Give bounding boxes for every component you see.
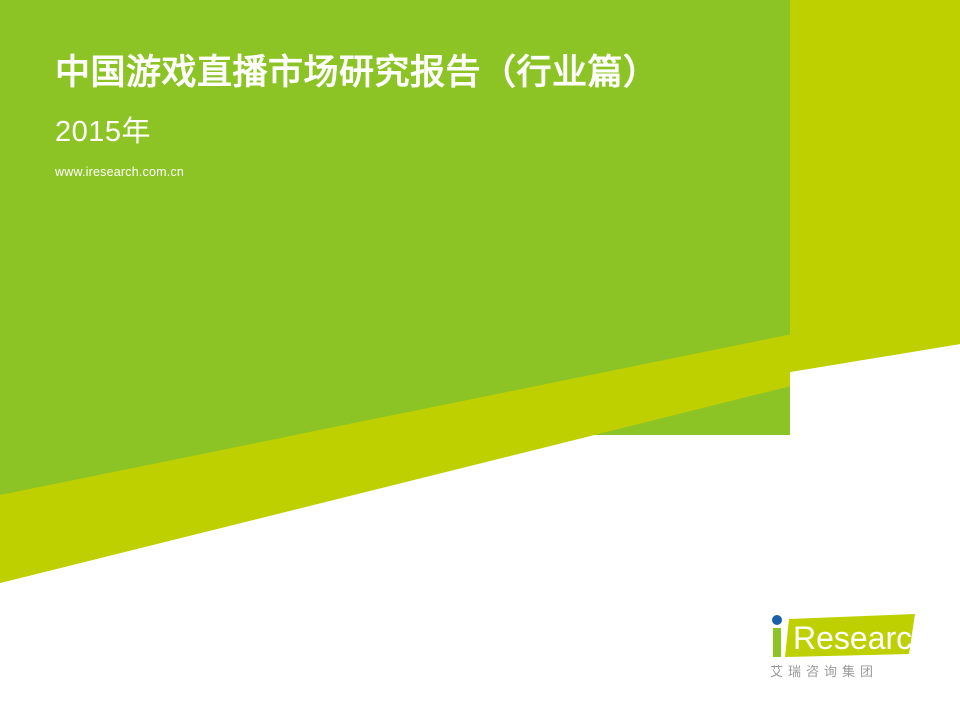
logo-i-stem bbox=[773, 628, 781, 657]
right-accent-panel bbox=[790, 0, 960, 372]
green-panel-lower-wedge bbox=[0, 372, 790, 495]
right-accent-panel-restore bbox=[790, 0, 960, 372]
diagonal-accent-band-overlay bbox=[0, 300, 960, 583]
report-year: 2015年 bbox=[55, 117, 815, 149]
page-title: 中国游戏直播市场研究报告（行业篇） bbox=[55, 52, 815, 95]
cover-header: 中国游戏直播市场研究报告（行业篇） 2015年 www.iresearch.co… bbox=[55, 52, 815, 180]
logo-wordmark-graphic: Research bbox=[763, 612, 933, 662]
logo-i-dot bbox=[772, 615, 782, 625]
logo-wordmark-text: Research bbox=[793, 620, 930, 656]
report-cover-slide: 中国游戏直播市场研究报告（行业篇） 2015年 www.iresearch.co… bbox=[0, 0, 960, 720]
logo-mark: Research bbox=[763, 612, 933, 662]
website-url[interactable]: www.iresearch.com.cn bbox=[55, 165, 815, 180]
iresearch-logo: Research 艾瑞咨询集团 bbox=[763, 612, 933, 696]
logo-chinese-name: 艾瑞咨询集团 bbox=[763, 664, 933, 680]
diagonal-accent-band bbox=[0, 300, 960, 583]
